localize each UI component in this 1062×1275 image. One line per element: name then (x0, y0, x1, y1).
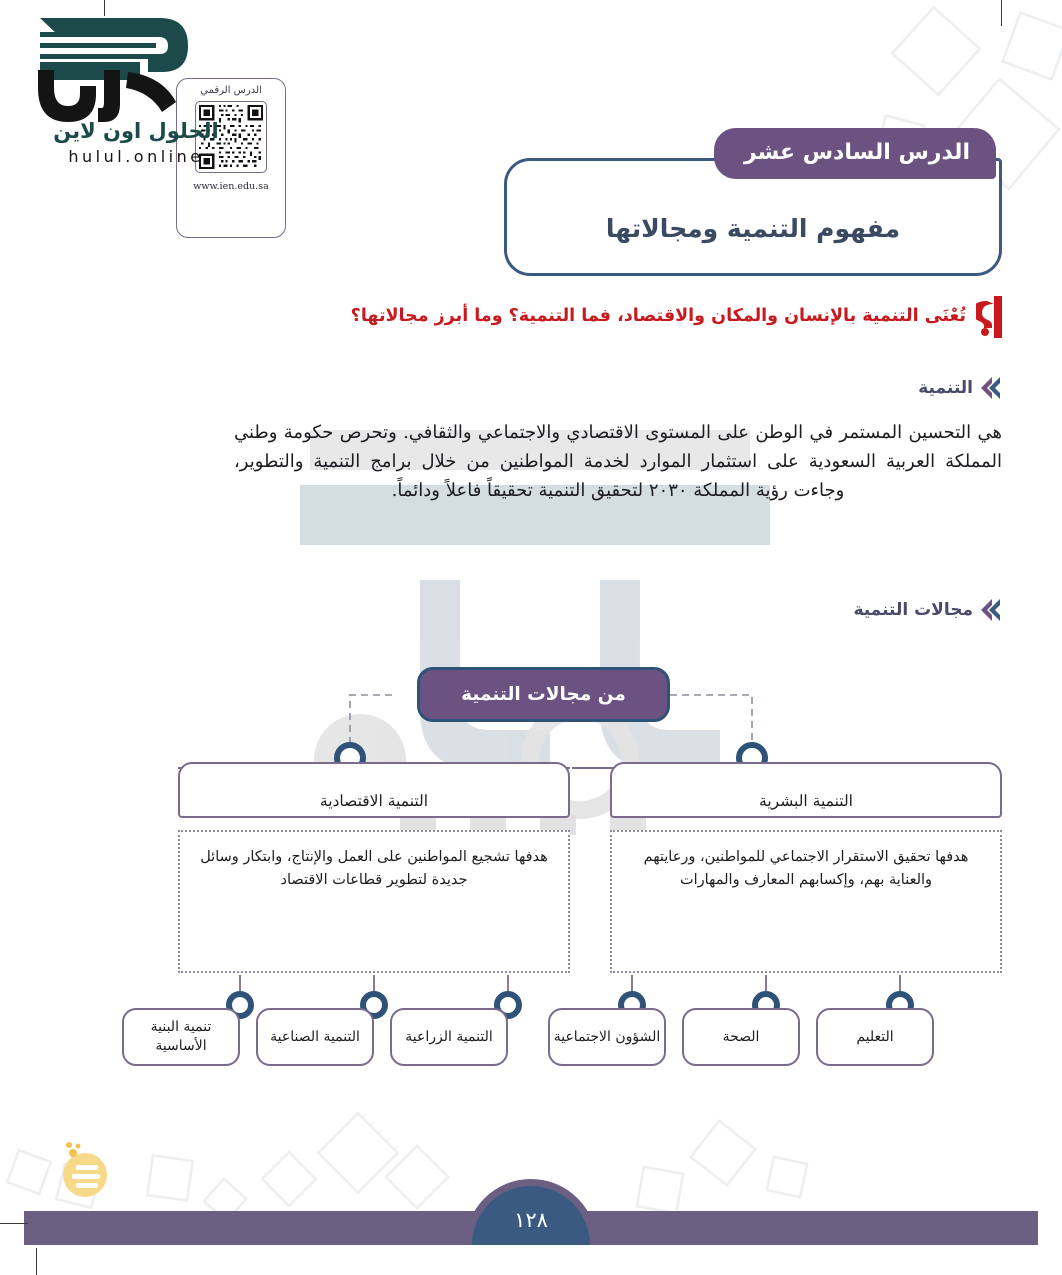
question-mark-icon (976, 296, 1002, 338)
double-chevron-left-icon (980, 376, 1002, 400)
diagram-branch-human-title: التنمية البشرية (610, 762, 1002, 818)
crop-mark-top-right (1001, 0, 1002, 26)
section-heading-development-fields: مجالات التنمية (853, 598, 1002, 622)
diagram-leaf-node: التعليم (816, 1008, 934, 1066)
diagram-leaf-node: تنمية البنية الأساسية (122, 1008, 240, 1066)
page-title: مفهوم التنمية ومجالاتها (606, 214, 900, 243)
diagram-branch-economic-description: هدفها تشجيع المواطنين على العمل والإنتاج… (178, 830, 570, 973)
diagram-leaf-node: التنمية الصناعية (256, 1008, 374, 1066)
lesson-number-badge: الدرس السادس عشر (714, 128, 996, 179)
crop-mark-bottom-left-h (0, 1223, 28, 1224)
diagram-leaf-node: التنمية الزراعية (390, 1008, 508, 1066)
svg-text:hulul.online: hulul.online (68, 147, 203, 166)
section-body-text: هي التحسين المستمر في الوطن على المستوى … (234, 418, 1002, 505)
development-fields-diagram: من مجالات التنمية التنمية البشرية التنمي… (0, 650, 1062, 1080)
section-heading-development: التنمية (918, 376, 1002, 400)
diagram-leaf-node: الصحة (682, 1008, 800, 1066)
svg-text:الحلول اون لاين: الحلول اون لاين (53, 119, 218, 143)
question-text: تُعْنَى التنمية بالإنسان والمكان والاقتص… (351, 305, 966, 329)
diagram-root-node: من مجالات التنمية (417, 667, 670, 722)
section-heading-label: مجالات التنمية (853, 600, 973, 620)
lesson-question: تُعْنَى التنمية بالإنسان والمكان والاقتص… (242, 296, 1002, 338)
diagram-leaf-node: الشؤون الاجتماعية (548, 1008, 666, 1066)
crop-mark-bottom-left-v (36, 1248, 37, 1275)
double-chevron-left-icon (980, 598, 1002, 622)
page-number-badge: ١٢٨ (465, 1179, 597, 1245)
diagram-branch-economic-title: التنمية الاقتصادية (178, 762, 570, 818)
ministry-emblem-icon (56, 1139, 114, 1201)
hulul-brand-logo: الحلول اون لاين hulul.online (18, 10, 288, 185)
page-number: ١٢٨ (514, 1208, 548, 1232)
section-heading-label: التنمية (918, 378, 973, 398)
lesson-header: مفهوم التنمية ومجالاتها الدرس السادس عشر (482, 128, 1002, 276)
diagram-branch-human-description: هدفها تحقيق الاستقرار الاجتماعي للمواطني… (610, 830, 1002, 973)
